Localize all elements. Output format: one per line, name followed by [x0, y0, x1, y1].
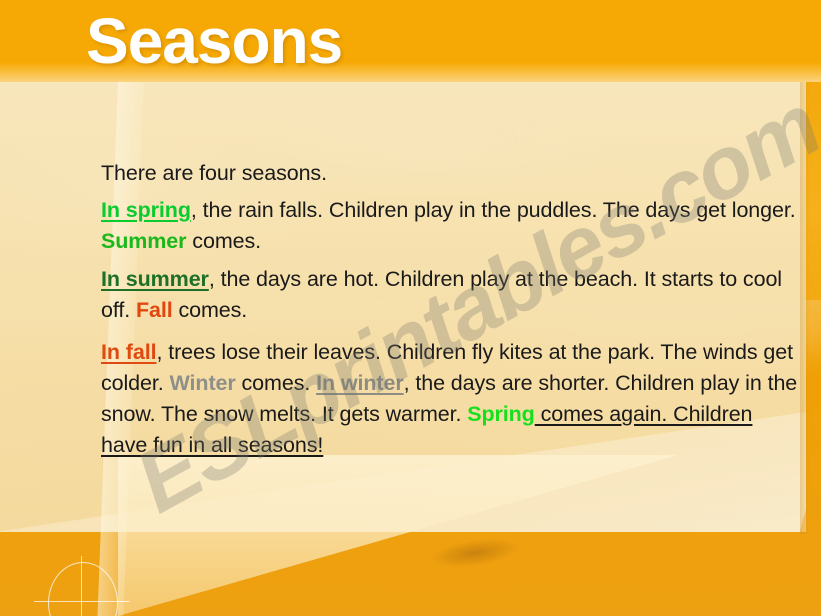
slide-canvas: Seasons There are four seasons. In sprin…: [0, 0, 821, 616]
paragraph-spring: In spring, the rain falls. Children play…: [101, 195, 801, 257]
body-text-block: There are four seasons. In spring, the r…: [101, 158, 801, 472]
title-bar: Seasons: [0, 0, 821, 82]
text-segment-summer-0: In summer: [101, 267, 209, 291]
text-segment-summer-3: comes.: [173, 298, 248, 322]
decorative-crosshair-horizontal: [34, 601, 130, 602]
paragraph-intro: There are four seasons.: [101, 158, 801, 189]
paragraph-fall-winter: In fall, trees lose their leaves. Childr…: [101, 337, 801, 461]
decorative-crosshair-vertical: [81, 556, 82, 616]
text-segment-spring-1: , the rain falls. Children play in the p…: [191, 198, 796, 222]
text-segment-fall-winter-0: In fall: [101, 340, 156, 364]
text-segment-intro-0: There are four seasons.: [101, 161, 327, 185]
text-segment-fall-winter-4: In winter: [316, 371, 404, 395]
paragraph-summer: In summer, the days are hot. Children pl…: [101, 264, 801, 326]
text-segment-fall-winter-6: Spring: [467, 402, 534, 426]
panel-right-edge-shadow: [800, 82, 810, 534]
text-segment-fall-winter-2: Winter: [170, 371, 236, 395]
text-segment-fall-winter-3: comes.: [236, 371, 316, 395]
page-title: Seasons: [86, 4, 342, 78]
text-segment-spring-2: Summer: [101, 229, 186, 253]
text-segment-summer-2: Fall: [136, 298, 173, 322]
text-segment-spring-3: comes.: [186, 229, 261, 253]
text-segment-spring-0: In spring: [101, 198, 191, 222]
